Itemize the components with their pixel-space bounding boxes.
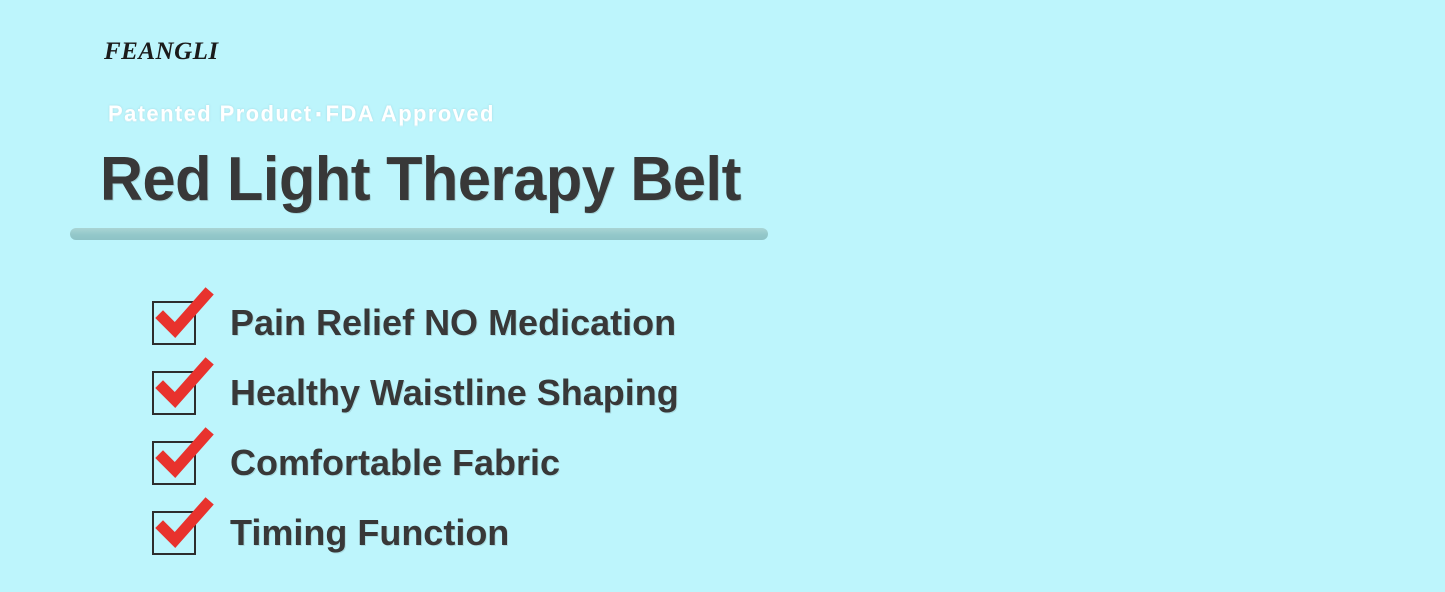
- tagline: Patented Product▪FDA Approved: [108, 101, 495, 127]
- checkbox-checked-icon: [152, 441, 196, 485]
- checkbox-checked-icon: [152, 511, 196, 555]
- checkbox-checked-icon: [152, 371, 196, 415]
- feature-label: Healthy Waistline Shaping: [230, 372, 679, 414]
- tagline-right: FDA Approved: [326, 101, 495, 126]
- checkbox-checked-icon: [152, 301, 196, 345]
- list-item: Healthy Waistline Shaping: [152, 358, 812, 428]
- page-title: Red Light Therapy Belt: [100, 144, 741, 215]
- product-photo: ICE: [820, 0, 1445, 592]
- feature-label: Pain Relief NO Medication: [230, 302, 676, 344]
- feature-label: Timing Function: [230, 512, 509, 554]
- list-item: Timing Function: [152, 498, 812, 568]
- tagline-left: Patented Product: [108, 101, 313, 126]
- list-item: Pain Relief NO Medication: [152, 288, 812, 358]
- arc-divider-mask: [820, 0, 1445, 592]
- list-item: Comfortable Fabric: [152, 428, 812, 498]
- feature-label: Comfortable Fabric: [230, 442, 560, 484]
- title-divider: [70, 228, 768, 240]
- tagline-separator-icon: ▪: [316, 106, 323, 123]
- brand-logo: FEANGLI: [104, 38, 219, 66]
- feature-list: Pain Relief NO Medication Healthy Waistl…: [152, 288, 812, 568]
- promo-banner: ICE: [0, 0, 1445, 592]
